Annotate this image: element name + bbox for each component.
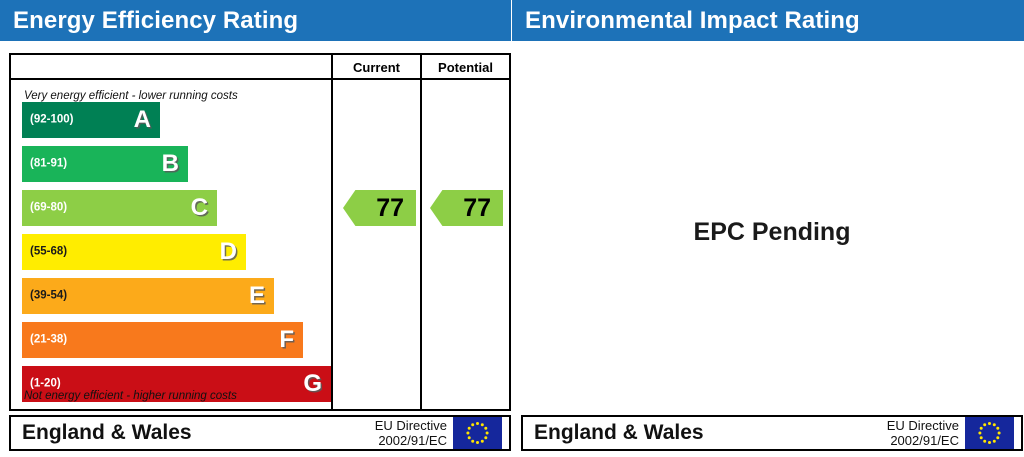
band-range-g: (1-20) bbox=[30, 378, 61, 390]
band-letter-g: G bbox=[303, 372, 322, 396]
rating-band-a: (92-100) A bbox=[22, 102, 160, 138]
energy-efficiency-header: Energy Efficiency Rating bbox=[0, 0, 512, 41]
band-letter-d: D bbox=[220, 240, 237, 264]
band-range-b: (81-91) bbox=[30, 158, 67, 170]
energy-efficiency-panel: Energy Efficiency Rating Current Potenti… bbox=[0, 0, 512, 457]
eu-flag-icon bbox=[453, 417, 502, 449]
band-range-c: (69-80) bbox=[30, 202, 67, 214]
chart-header-row: Current Potential bbox=[11, 55, 509, 80]
current-rating-value: 77 bbox=[376, 194, 404, 223]
environmental-impact-panel: Environmental Impact Rating EPC Pending … bbox=[512, 0, 1024, 457]
rating-band-c: (69-80) C bbox=[22, 190, 217, 226]
eu-flag-icon-right bbox=[965, 417, 1014, 449]
band-range-f: (21-38) bbox=[30, 334, 67, 346]
band-letter-e: E bbox=[249, 284, 265, 308]
column-separator-current bbox=[331, 80, 333, 409]
rating-bands-area: Very energy efficient - lower running co… bbox=[11, 80, 331, 409]
band-range-a: (92-100) bbox=[30, 114, 73, 126]
rating-band-e: (39-54) E bbox=[22, 278, 274, 314]
rating-band-f: (21-38) F bbox=[22, 322, 303, 358]
environmental-impact-body: EPC Pending bbox=[521, 53, 1023, 411]
column-separator-potential bbox=[420, 80, 422, 409]
potential-rating-marker: 77 bbox=[430, 190, 503, 226]
column-header-current: Current bbox=[331, 55, 420, 80]
environmental-footer: England & Wales EU Directive 2002/91/EC bbox=[521, 415, 1023, 451]
band-range-e: (39-54) bbox=[30, 290, 67, 302]
footer-directive-line2: 2002/91/EC bbox=[378, 433, 447, 448]
band-letter-f: F bbox=[279, 328, 294, 352]
footer-region-label: England & Wales bbox=[22, 421, 192, 445]
epc-pending-message: EPC Pending bbox=[694, 218, 851, 247]
footer-directive-line1: EU Directive bbox=[375, 418, 447, 433]
energy-footer: England & Wales EU Directive 2002/91/EC bbox=[9, 415, 511, 451]
band-range-d: (55-68) bbox=[30, 246, 67, 258]
energy-efficiency-title: Energy Efficiency Rating bbox=[13, 7, 298, 35]
environmental-impact-header: Environmental Impact Rating bbox=[512, 0, 1024, 41]
band-letter-c: C bbox=[191, 196, 208, 220]
chart-header-blank bbox=[11, 55, 331, 80]
rating-band-d: (55-68) D bbox=[22, 234, 246, 270]
rating-band-b: (81-91) B bbox=[22, 146, 188, 182]
column-header-potential: Potential bbox=[420, 55, 509, 80]
environmental-impact-title: Environmental Impact Rating bbox=[525, 7, 860, 35]
current-rating-marker: 77 bbox=[343, 190, 416, 226]
footer-directive-line1-right: EU Directive bbox=[887, 418, 959, 433]
epc-certificate-graphic: Energy Efficiency Rating Current Potenti… bbox=[0, 0, 1024, 457]
caption-not-efficient: Not energy efficient - higher running co… bbox=[24, 390, 237, 402]
footer-directive-line2-right: 2002/91/EC bbox=[890, 433, 959, 448]
potential-rating-value: 77 bbox=[463, 194, 491, 223]
energy-efficiency-chart: Current Potential Very energy efficient … bbox=[9, 53, 511, 411]
caption-very-efficient: Very energy efficient - lower running co… bbox=[24, 90, 238, 102]
band-letter-a: A bbox=[134, 108, 151, 132]
footer-eu-directive-right: EU Directive 2002/91/EC bbox=[887, 418, 959, 448]
footer-eu-directive: EU Directive 2002/91/EC bbox=[375, 418, 447, 448]
footer-region-label-right: England & Wales bbox=[534, 421, 704, 445]
band-letter-b: B bbox=[162, 152, 179, 176]
